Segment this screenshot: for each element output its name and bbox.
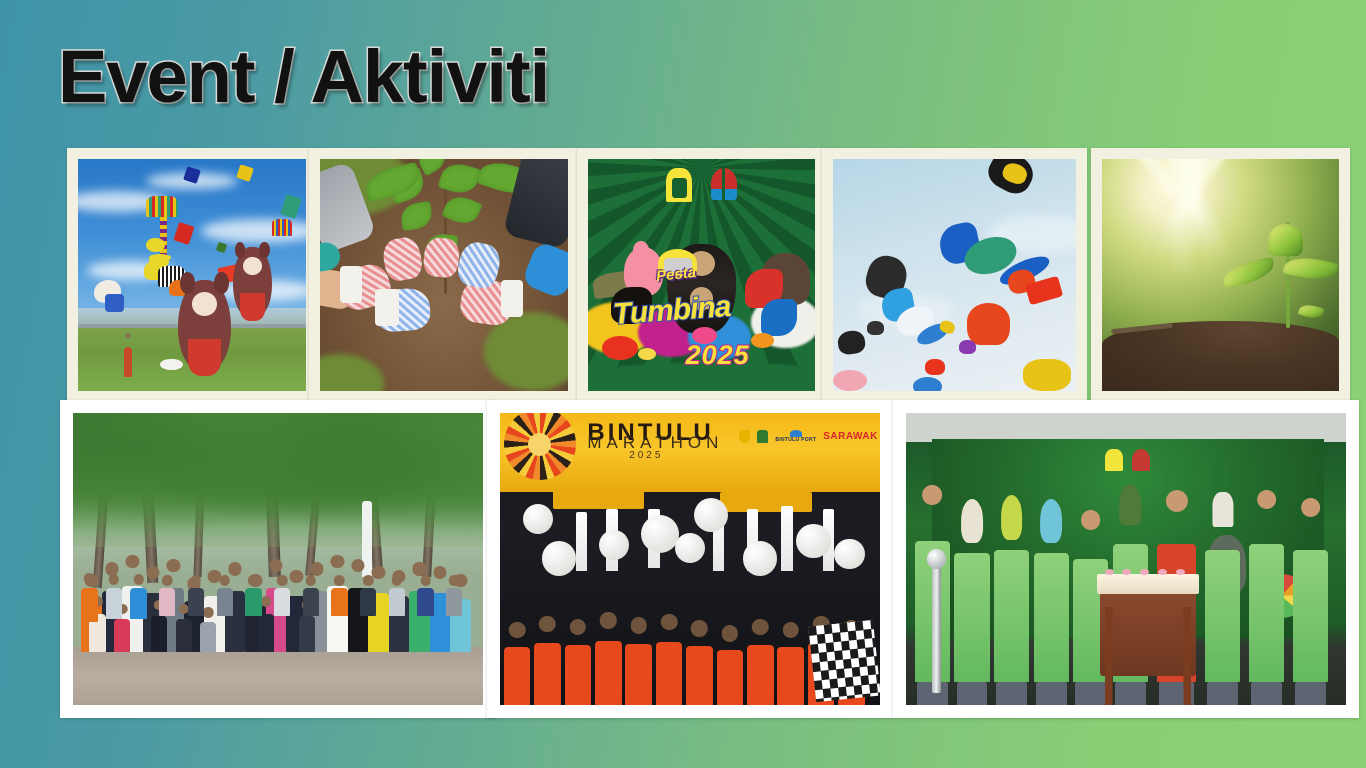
person-child	[200, 622, 216, 653]
seedling-plant	[1249, 222, 1330, 329]
poster-pesta-tumbina: Pesta Tumbina 2025	[588, 159, 815, 391]
kite-dark-small	[867, 321, 884, 335]
backdrop-state-logo-icon	[1132, 449, 1150, 471]
leaf	[1268, 223, 1305, 256]
official-person	[1249, 544, 1284, 681]
banner-year: 2025	[629, 450, 663, 461]
kite-fringe	[272, 219, 293, 235]
official-person	[1205, 550, 1240, 681]
person	[258, 614, 274, 653]
person-back-row	[217, 588, 233, 616]
kite-smiley	[146, 238, 164, 252]
crowd-of-participants	[73, 524, 483, 652]
leaf	[442, 192, 483, 229]
ear	[235, 242, 246, 259]
kite-blue-small	[913, 377, 942, 391]
balloon	[834, 539, 864, 569]
speaker-box	[720, 492, 811, 512]
runner	[504, 647, 531, 705]
person-back-row	[417, 588, 433, 616]
sponsor-name-port: BINTULU PORT	[775, 437, 816, 443]
stanchion-post	[932, 565, 941, 693]
official-person	[954, 553, 989, 681]
kite-purple-small	[959, 340, 976, 354]
ground-kite	[160, 359, 183, 371]
glove-cuff	[375, 289, 400, 326]
person-back-row	[389, 588, 405, 616]
person-child	[176, 619, 192, 652]
cake-flower	[1122, 569, 1131, 575]
kite-chipmunk-large	[178, 280, 230, 370]
kite-bear-body	[105, 294, 123, 313]
photo-community-group	[73, 413, 483, 705]
leaf-small	[1298, 301, 1325, 321]
runner	[595, 641, 622, 705]
photo-frame-tree-planting[interactable]	[309, 148, 579, 402]
balloon	[694, 498, 728, 532]
person-back-row	[274, 588, 290, 616]
ear	[214, 272, 229, 294]
frangipani-flower	[638, 348, 656, 360]
sponsor-name-sarawak: SARAWAK	[823, 431, 878, 442]
event-flag	[576, 512, 587, 570]
hijab	[1001, 495, 1023, 540]
cake-flower	[1176, 569, 1185, 575]
macaw	[761, 299, 797, 336]
cake-flower	[1158, 569, 1167, 575]
official-person	[994, 550, 1029, 681]
runner	[777, 647, 804, 705]
photo-kite-festival	[78, 159, 306, 391]
kite-red-small	[925, 359, 944, 375]
glove-cuff	[340, 266, 362, 303]
cake-flower	[1105, 569, 1114, 575]
person	[124, 347, 132, 377]
photo-frame-bintulu-marathon[interactable]: BINTULU MARATHON 2025 BINTULU PORT SARAW…	[487, 400, 893, 718]
poster-logo-row	[588, 168, 815, 202]
photo-bintulu-marathon: BINTULU MARATHON 2025 BINTULU PORT SARAW…	[500, 413, 880, 705]
balloon	[641, 515, 679, 553]
runner	[565, 645, 592, 705]
ear	[180, 272, 195, 294]
photo-seedling	[1102, 159, 1339, 391]
person-back-row	[159, 588, 175, 616]
photo-cake-cutting	[906, 413, 1346, 705]
paved-ground	[73, 647, 483, 705]
state-logo-icon	[711, 168, 737, 200]
person-back-row	[130, 588, 146, 619]
person-back-row	[106, 588, 122, 619]
ceremonial-cake	[1097, 574, 1198, 594]
runner	[747, 645, 774, 705]
marathon-arch-banner: BINTULU MARATHON 2025 BINTULU PORT SARAW…	[500, 413, 880, 492]
runner	[656, 642, 683, 705]
photo-frame-inflatable-kites[interactable]	[822, 148, 1087, 402]
photo-frame-pesta-tumbina[interactable]: Pesta Tumbina 2025	[577, 148, 826, 402]
person-back-row	[446, 588, 462, 616]
kite-yellow-large	[1023, 359, 1072, 391]
person-back-row	[303, 588, 319, 616]
cap	[1212, 492, 1233, 526]
person-child	[151, 616, 167, 652]
person	[299, 616, 315, 652]
sponsor-logo-row: BINTULU PORT SARAWAK	[739, 430, 877, 443]
poster-title-year: 2025	[686, 340, 750, 371]
council-logo-icon	[666, 168, 692, 202]
songkok-cap	[1119, 484, 1141, 525]
kite-dinosaur	[967, 303, 1011, 345]
person-back-row	[331, 588, 347, 616]
marathon-sunburst-logo-icon	[504, 413, 576, 480]
photo-tree-planting	[320, 159, 568, 391]
cake-flower	[1140, 569, 1149, 575]
runner	[717, 650, 744, 705]
kite-pink-small	[833, 370, 867, 391]
bintulu-port-logo: BINTULU PORT	[775, 430, 816, 443]
backdrop-council-logo-icon	[1105, 449, 1123, 471]
balloon	[796, 524, 830, 558]
photo-frame-kite-festival[interactable]	[67, 148, 317, 402]
hijab	[1040, 499, 1062, 543]
port-mark-icon	[790, 430, 802, 437]
photo-frame-cake-cutting[interactable]	[893, 400, 1359, 718]
balloon	[523, 504, 553, 534]
page-title: Event / Aktiviti	[58, 34, 549, 119]
council-crest-icon	[757, 430, 768, 443]
kite-fringe	[146, 196, 178, 217]
flamingo-head	[633, 241, 649, 259]
event-flag	[781, 506, 792, 570]
runner	[534, 643, 561, 705]
kite-chipmunk-small	[233, 247, 272, 317]
hijab	[961, 499, 983, 543]
person-back-row	[188, 588, 204, 616]
balloon	[743, 541, 777, 575]
photo-frame-community-group[interactable]	[60, 400, 496, 718]
person-back-row	[245, 588, 261, 616]
balloon	[675, 533, 705, 563]
runner	[625, 644, 652, 705]
ceremony-table	[1100, 588, 1197, 676]
balloon	[542, 541, 576, 575]
person-child	[114, 619, 130, 652]
state-crest-icon	[739, 430, 750, 443]
photo-frame-seedling[interactable]	[1091, 148, 1350, 402]
checkered-flag	[808, 620, 880, 702]
speaker-box	[553, 489, 644, 509]
official-person	[1293, 550, 1328, 681]
glove-cuff	[501, 280, 523, 317]
photo-inflatable-kites	[833, 159, 1076, 391]
hibiscus-flower	[602, 336, 638, 360]
person-back-row	[360, 588, 376, 616]
person-back-row	[81, 588, 97, 621]
runner	[686, 646, 713, 705]
soil-mound	[1102, 321, 1339, 391]
official-person	[1034, 553, 1069, 681]
